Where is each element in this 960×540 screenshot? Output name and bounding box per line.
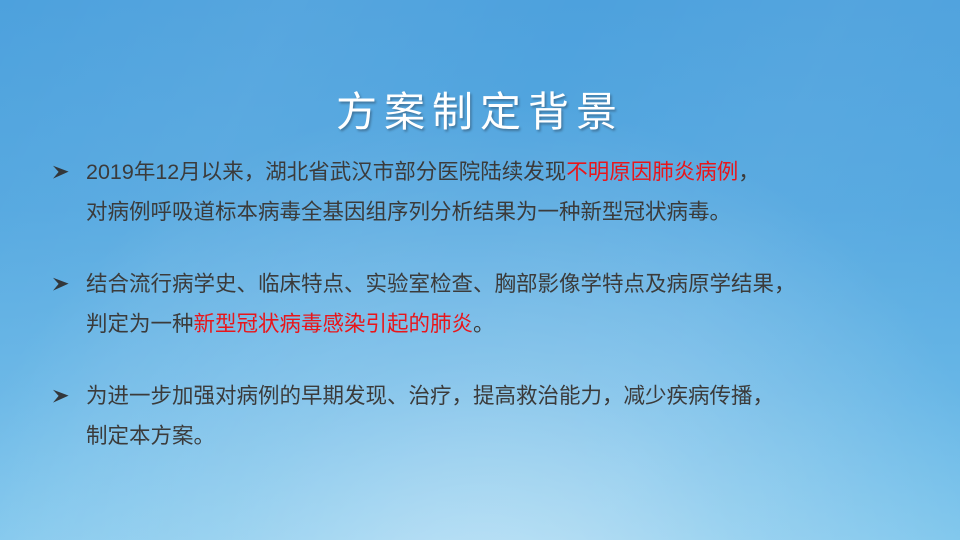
presentation-slide: 方案制定背景 2019年12月以来，湖北省武汉市部分医院陆续发现不明原因肺炎病例… xyxy=(0,0,960,540)
bullet-line: 2019年12月以来，湖北省武汉市部分医院陆续发现不明原因肺炎病例， xyxy=(86,152,920,192)
arrow-triangle-right-icon xyxy=(52,264,76,304)
body-text: ， xyxy=(738,160,760,184)
highlighted-text: 新型冠状病毒感染引起的肺炎 xyxy=(194,312,474,336)
bullet-item: 结合流行病学史、临床特点、实验室检查、胸部影像学特点及病原学结果，判定为一种新型… xyxy=(48,264,920,344)
body-text: 制定本方案。 xyxy=(86,424,215,448)
bullet-line: 对病例呼吸道标本病毒全基因组序列分析结果为一种新型冠状病毒。 xyxy=(86,192,920,232)
page-title: 方案制定背景 xyxy=(0,87,960,137)
slide-body: 2019年12月以来，湖北省武汉市部分医院陆续发现不明原因肺炎病例，对病例呼吸道… xyxy=(48,152,920,456)
body-text: 对病例呼吸道标本病毒全基因组序列分析结果为一种新型冠状病毒。 xyxy=(86,200,731,224)
body-text: 为进一步加强对病例的早期发现、治疗，提高救治能力，减少疾病传播， xyxy=(86,384,774,408)
highlighted-text: 不明原因肺炎病例 xyxy=(566,160,738,184)
arrow-triangle-right-icon xyxy=(52,376,76,416)
body-text: 。 xyxy=(473,312,495,336)
arrow-triangle-right-icon xyxy=(52,152,76,192)
bullet-item: 为进一步加强对病例的早期发现、治疗，提高救治能力，减少疾病传播，制定本方案。 xyxy=(48,376,920,456)
body-text: 2019年12月以来，湖北省武汉市部分医院陆续发现 xyxy=(86,160,566,184)
bullet-line: 制定本方案。 xyxy=(86,416,920,456)
bullet-line: 为进一步加强对病例的早期发现、治疗，提高救治能力，减少疾病传播， xyxy=(86,376,920,416)
bullet-line: 结合流行病学史、临床特点、实验室检查、胸部影像学特点及病原学结果， xyxy=(86,264,920,304)
bullet-item: 2019年12月以来，湖北省武汉市部分医院陆续发现不明原因肺炎病例，对病例呼吸道… xyxy=(48,152,920,232)
body-text: 结合流行病学史、临床特点、实验室检查、胸部影像学特点及病原学结果， xyxy=(86,272,796,296)
body-text: 判定为一种 xyxy=(86,312,194,336)
bullet-line: 判定为一种新型冠状病毒感染引起的肺炎。 xyxy=(86,304,920,344)
